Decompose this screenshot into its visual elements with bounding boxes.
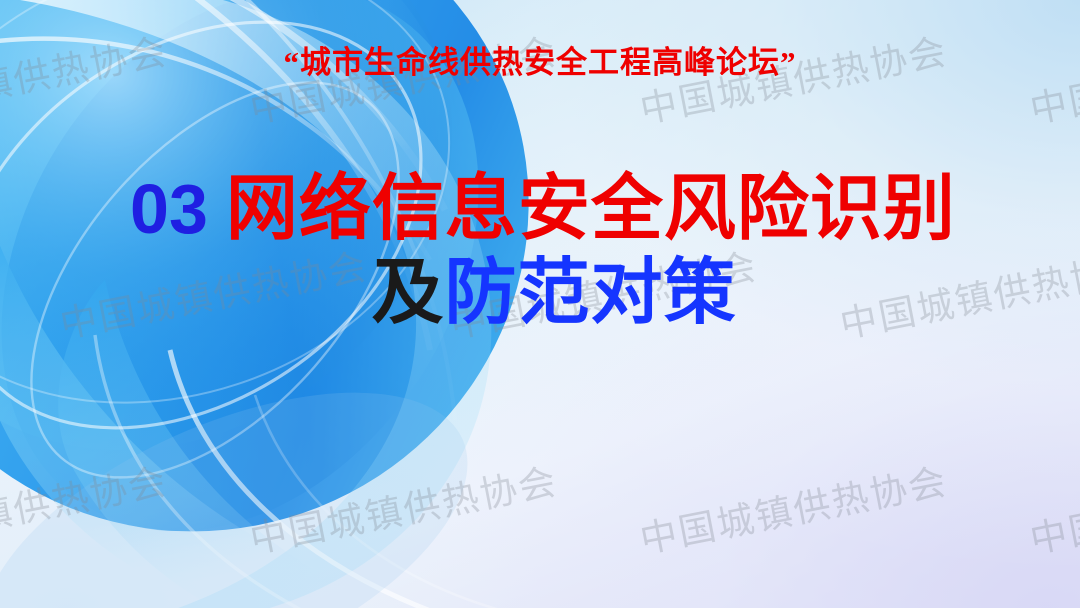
slide-title-line-1: 03网络信息安全风险识别 (0, 168, 1080, 252)
presentation-slide: 中国城镇供热协会 中国城镇供热协会 中国城镇供热协会 中国城镇供热协会 中国城镇… (0, 0, 1080, 608)
slide-title-line-2-conjunction: 及 (371, 253, 444, 333)
slide-title-line-2: 及防范对策 (0, 252, 1080, 336)
slide-title-line-2-text: 防范对策 (445, 253, 737, 333)
section-number: 03 (130, 170, 226, 248)
slide-title-block: 03网络信息安全风险识别 及防范对策 (0, 168, 1080, 335)
slide-title-line-1-text: 网络信息安全风险识别 (226, 169, 956, 249)
slide-header-title: “城市生命线供热安全工程高峰论坛” (0, 37, 1080, 82)
